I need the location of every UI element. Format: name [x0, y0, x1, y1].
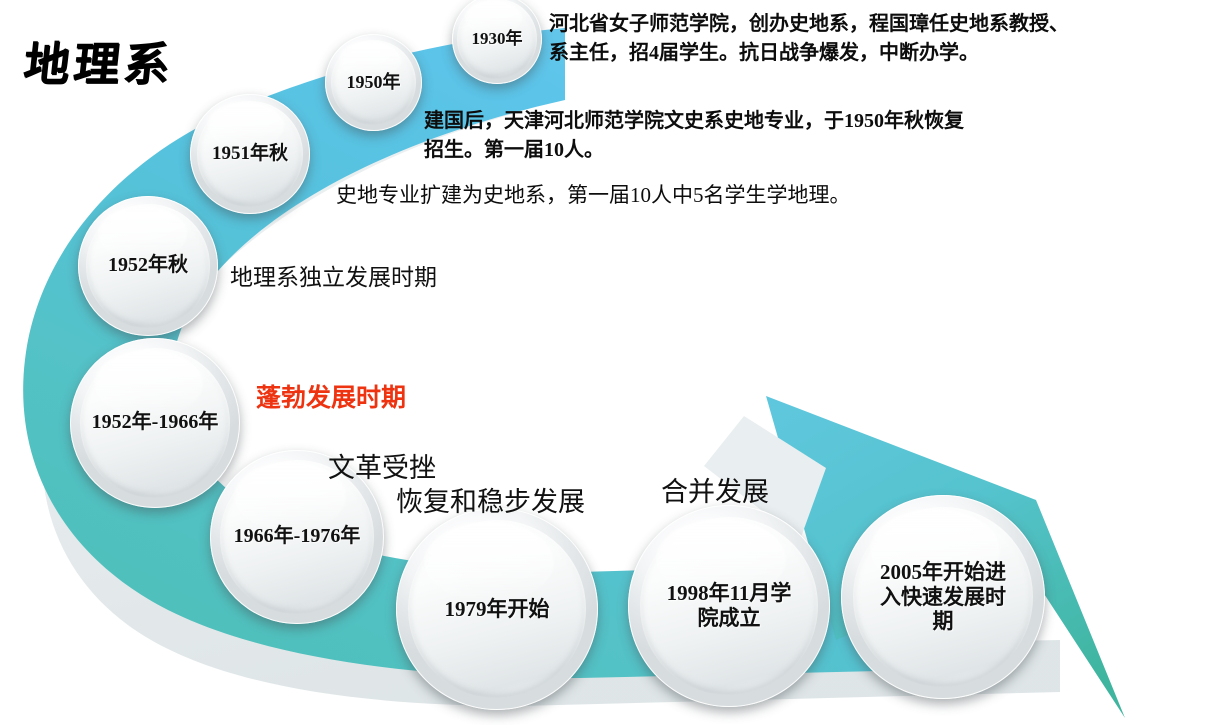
timeline-node-label: 1966年-1976年 — [228, 525, 367, 549]
phase-independent: 地理系独立发展时期 — [230, 258, 437, 292]
timeline-node-1998[interactable]: 1998年11月学 院成立 — [628, 505, 830, 707]
note-1930: 河北省女子师范学院，创办史地系，程国璋任史地系教授、 系主任，招4届学生。抗日战… — [549, 10, 1069, 68]
timeline-node-1950[interactable]: 1950年 — [325, 34, 422, 131]
timeline-node-1951-autumn[interactable]: 1951年秋 — [190, 94, 310, 214]
phase-recovery: 恢复和稳步发展 — [396, 480, 585, 519]
timeline-node-label: 1952年秋 — [102, 254, 194, 278]
timeline-node-1952-1966[interactable]: 1952年-1966年 — [70, 338, 240, 508]
timeline-node-2005[interactable]: 2005年开始进 入快速发展时 期 — [841, 495, 1045, 699]
timeline-diagram: 地理系 1930年 1950年 1951年秋 1952年秋 1952年-1966… — [0, 0, 1227, 725]
page-title: 地理系 — [21, 28, 178, 94]
timeline-node-label: 1930年 — [466, 29, 529, 49]
timeline-node-label: 1998年11月学 院成立 — [661, 581, 798, 631]
phase-merge: 合并发展 — [661, 470, 769, 509]
phase-flourish: 蓬勃发展时期 — [256, 378, 406, 414]
timeline-node-label: 1950年 — [341, 72, 407, 93]
timeline-node-label: 2005年开始进 入快速发展时 期 — [874, 560, 1012, 634]
timeline-node-label: 1979年开始 — [439, 597, 556, 622]
timeline-node-label: 1952年-1966年 — [86, 411, 225, 435]
timeline-node-1952-autumn[interactable]: 1952年秋 — [78, 196, 218, 336]
timeline-node-label: 1951年秋 — [206, 143, 294, 165]
note-1950: 建国后，天津河北师范学院文史系史地专业，于1950年秋恢复 招生。第一届10人。 — [424, 107, 964, 165]
timeline-node-1979[interactable]: 1979年开始 — [396, 508, 598, 710]
note-1951: 史地专业扩建为史地系，第一届10人中5名学生学地理。 — [336, 180, 851, 210]
